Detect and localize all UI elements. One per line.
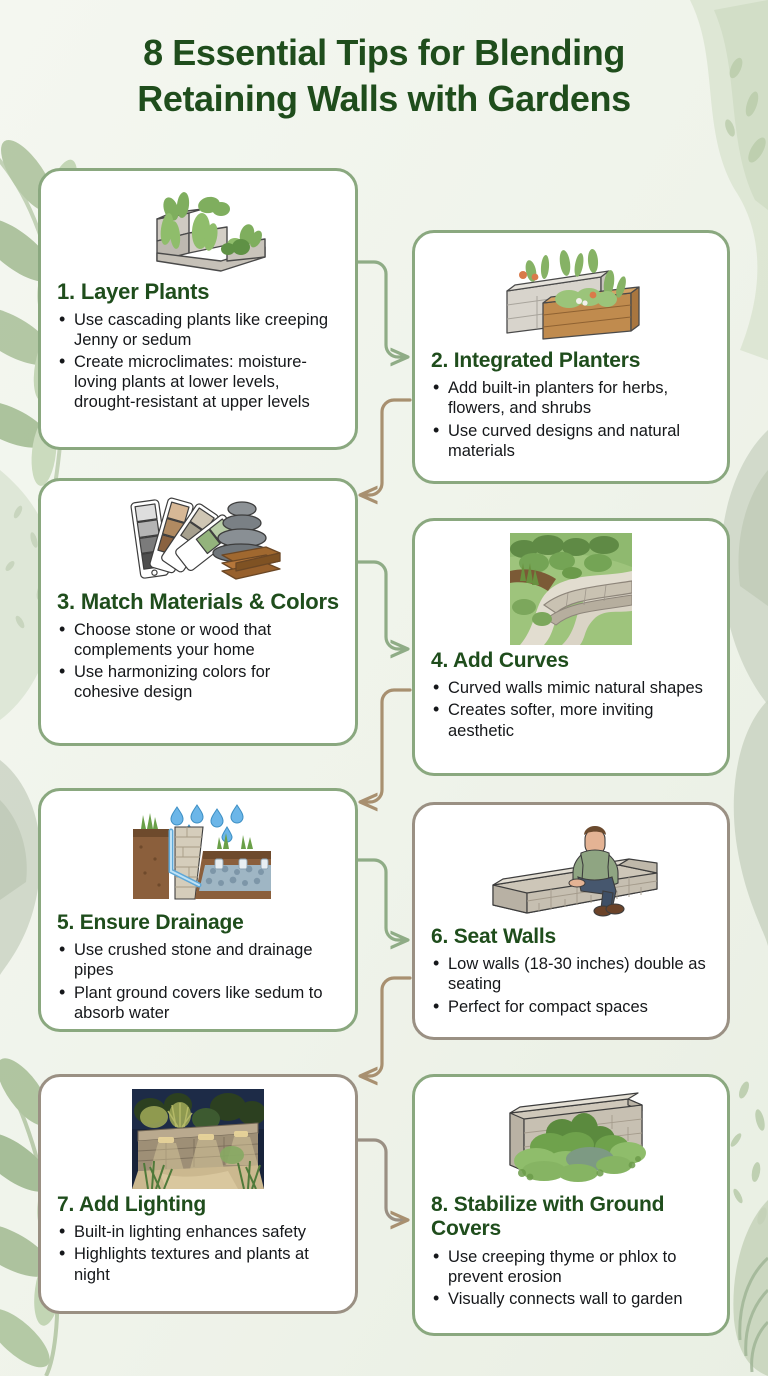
connector-1-to-2 bbox=[358, 262, 406, 357]
tip-card-1-title: 1. Layer Plants bbox=[57, 279, 339, 305]
stone-and-wood-planter-box-icon bbox=[431, 245, 711, 345]
tip-card-8[interactable]: 8. Stabilize with Ground Covers Use cree… bbox=[412, 1074, 730, 1336]
illuminated-wall-at-night-photo-icon bbox=[57, 1089, 339, 1189]
bullet-item: Curved walls mimic natural shapes bbox=[431, 678, 711, 698]
wall-drainage-cross-section-with-rain-icon bbox=[57, 803, 339, 907]
tip-card-2[interactable]: 2. Integrated Planters Add built-in plan… bbox=[412, 230, 730, 484]
bullet-item: Built-in lighting enhances safety bbox=[57, 1222, 339, 1242]
bullet-item: Use cascading plants like creeping Jenny… bbox=[57, 310, 339, 350]
bullet-item: Use crushed stone and drainage pipes bbox=[57, 940, 339, 980]
tip-card-7-bullets: Built-in lighting enhances safety Highli… bbox=[57, 1222, 339, 1286]
tip-card-7-title: 7. Add Lighting bbox=[57, 1193, 339, 1217]
connector-3-to-4 bbox=[358, 562, 406, 649]
tip-card-8-title: 8. Stabilize with Ground Covers bbox=[431, 1193, 711, 1242]
bullet-item: Use curved designs and natural materials bbox=[431, 421, 711, 461]
tip-card-6-title: 6. Seat Walls bbox=[431, 925, 711, 949]
tip-card-3-bullets: Choose stone or wood that complements yo… bbox=[57, 620, 339, 705]
tip-card-2-bullets: Add built-in planters for herbs, flowers… bbox=[431, 378, 711, 463]
bullet-item: Visually connects wall to garden bbox=[431, 1289, 711, 1309]
bullet-item: Plant ground covers like sedum to absorb… bbox=[57, 983, 339, 1023]
stone-wall-with-spreading-ground-cover-icon bbox=[431, 1089, 711, 1189]
tip-card-4[interactable]: 4. Add Curves Curved walls mimic natural… bbox=[412, 518, 730, 776]
connector-5-to-6 bbox=[358, 860, 406, 940]
tip-card-1[interactable]: 1. Layer Plants Use cascading plants lik… bbox=[38, 168, 358, 450]
bullet-item: Use creeping thyme or phlox to prevent e… bbox=[431, 1247, 711, 1287]
bullet-item: Create microclimates: moisture-loving pl… bbox=[57, 352, 339, 412]
bullet-item: Choose stone or wood that complements yo… bbox=[57, 620, 339, 660]
tip-card-4-bullets: Curved walls mimic natural shapes Create… bbox=[431, 678, 711, 742]
tiered-planter-with-cascading-plants-icon bbox=[57, 183, 339, 275]
tip-card-2-title: 2. Integrated Planters bbox=[431, 349, 711, 373]
connector-6-to-7 bbox=[362, 978, 410, 1076]
tip-card-5-title: 5. Ensure Drainage bbox=[57, 911, 339, 935]
color-swatch-fan-stones-and-wood-planks-icon bbox=[57, 493, 339, 585]
tip-card-6-bullets: Low walls (18-30 inches) double as seati… bbox=[431, 954, 711, 1018]
tip-card-5-bullets: Use crushed stone and drainage pipes Pla… bbox=[57, 940, 339, 1025]
tip-card-8-bullets: Use creeping thyme or phlox to prevent e… bbox=[431, 1247, 711, 1311]
connector-7-to-8 bbox=[358, 1140, 406, 1220]
bullet-item: Highlights textures and plants at night bbox=[57, 1244, 339, 1284]
person-sitting-on-low-stone-seat-wall-icon bbox=[431, 817, 711, 921]
bullet-item: Use harmonizing colors for cohesive desi… bbox=[57, 662, 339, 702]
tip-card-1-bullets: Use cascading plants like creeping Jenny… bbox=[57, 310, 339, 415]
tip-card-7[interactable]: 7. Add Lighting Built-in lighting enhanc… bbox=[38, 1074, 358, 1314]
connector-2-to-3 bbox=[362, 400, 410, 495]
tip-card-3-title: 3. Match Materials & Colors bbox=[57, 589, 339, 615]
connector-4-to-5 bbox=[362, 690, 410, 802]
bullet-item: Perfect for compact spaces bbox=[431, 997, 711, 1017]
tip-card-5[interactable]: 5. Ensure Drainage Use crushed stone and… bbox=[38, 788, 358, 1032]
bullet-item: Low walls (18-30 inches) double as seati… bbox=[431, 954, 711, 994]
bullet-item: Creates softer, more inviting aesthetic bbox=[431, 700, 711, 740]
bullet-item: Add built-in planters for herbs, flowers… bbox=[431, 378, 711, 418]
tip-card-3[interactable]: 3. Match Materials & Colors Choose stone… bbox=[38, 478, 358, 746]
page-title-line-1: 8 Essential Tips for Blending bbox=[24, 30, 744, 76]
page-title-line-2: Retaining Walls with Gardens bbox=[24, 76, 744, 122]
tip-card-4-title: 4. Add Curves bbox=[431, 649, 711, 673]
curved-retaining-wall-garden-path-icon bbox=[431, 533, 711, 645]
page-title: 8 Essential Tips for Blending Retaining … bbox=[0, 30, 768, 122]
tip-card-6[interactable]: 6. Seat Walls Low walls (18-30 inches) d… bbox=[412, 802, 730, 1040]
